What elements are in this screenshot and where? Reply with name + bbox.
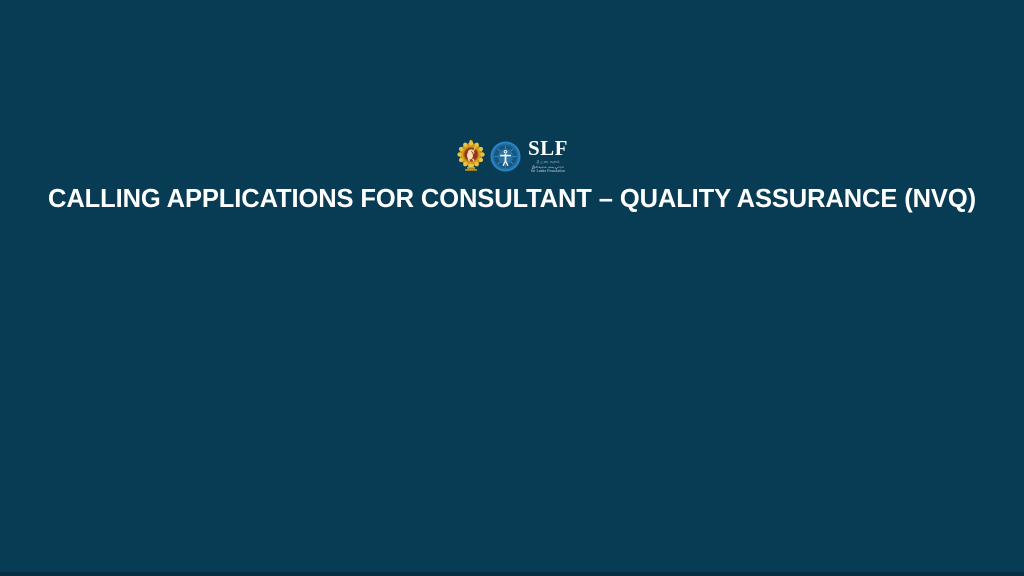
slf-wordmark: SLF ශ්‍රී ලංකා පදනම இலங்கை அடியாரம் Sri … xyxy=(528,138,568,173)
logo-group: SLF ශ්‍රී ලංකා පදනම இலங்கை அடியாரம் Sri … xyxy=(456,138,568,174)
slide-header-block: SLF ශ්‍රී ලංකා පදනම இலங்கை அடியாரம் Sri … xyxy=(0,138,1024,214)
slide-title: CALLING APPLICATIONS FOR CONSULTANT – QU… xyxy=(48,185,976,214)
slide-bottom-edge xyxy=(0,572,1024,576)
sri-lanka-national-emblem-icon xyxy=(456,139,486,173)
slf-subtitle-english: Sri Lanka Foundation xyxy=(531,169,565,173)
slf-letters: SLF xyxy=(528,138,568,159)
slf-circular-emblem-icon xyxy=(490,141,521,172)
presentation-slide: SLF ශ්‍රී ලංකා පදනම இலங்கை அடியாரம் Sri … xyxy=(0,0,1024,576)
